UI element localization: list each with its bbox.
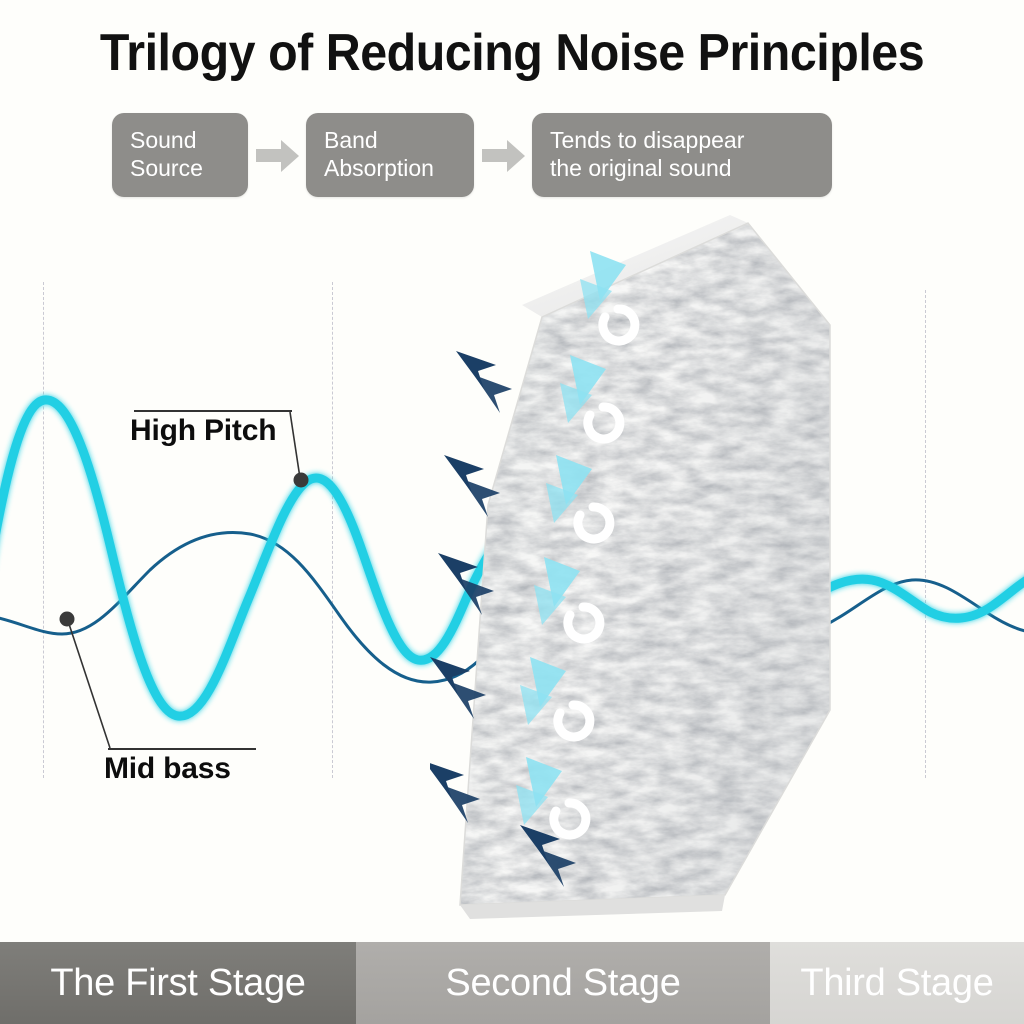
flow-step-sound-source[interactable]: Sound Source [112, 113, 248, 197]
marker-mid-bass [60, 612, 75, 627]
flow-step-band-absorption[interactable]: Band Absorption [306, 113, 474, 197]
stage-item-third[interactable]: Third Stage [770, 942, 1024, 1024]
leader-line-high-pitch [290, 412, 300, 478]
stage-progress-bar: The First Stage Second Stage Third Stage [0, 942, 1024, 1024]
noise-reduction-flow: Sound Source Band Absorption Tends to di… [112, 112, 912, 198]
arrow-shaft [482, 149, 509, 162]
panel-front-face [460, 223, 830, 905]
gridline-2 [332, 282, 333, 778]
gridline-1 [43, 282, 44, 778]
leader-line-mid-bass [68, 621, 110, 748]
marker-high-pitch [294, 473, 309, 488]
arrow-right-icon-2 [474, 138, 532, 172]
callout-rule-high-pitch [134, 410, 292, 412]
callout-rule-mid-bass [108, 748, 256, 750]
stage-item-first[interactable]: The First Stage [0, 942, 356, 1024]
callout-label-mid-bass: Mid bass [104, 752, 231, 786]
arrow-head [281, 140, 299, 172]
page-title: Trilogy of Reducing Noise Principles [36, 22, 988, 84]
gridline-3 [925, 290, 926, 778]
arrow-right-icon [248, 138, 306, 172]
infographic-canvas: Trilogy of Reducing Noise Principles Sou… [0, 0, 1024, 1024]
incoming-sound-arrow-icon [456, 351, 512, 413]
stage-item-second[interactable]: Second Stage [356, 942, 770, 1024]
arrow-head [507, 140, 525, 172]
arrow-shaft [256, 149, 283, 162]
callout-label-high-pitch: High Pitch [130, 414, 276, 448]
flow-step-tends-to-disappear[interactable]: Tends to disappear the original sound [532, 113, 832, 197]
acoustic-absorption-panel[interactable] [430, 205, 870, 925]
